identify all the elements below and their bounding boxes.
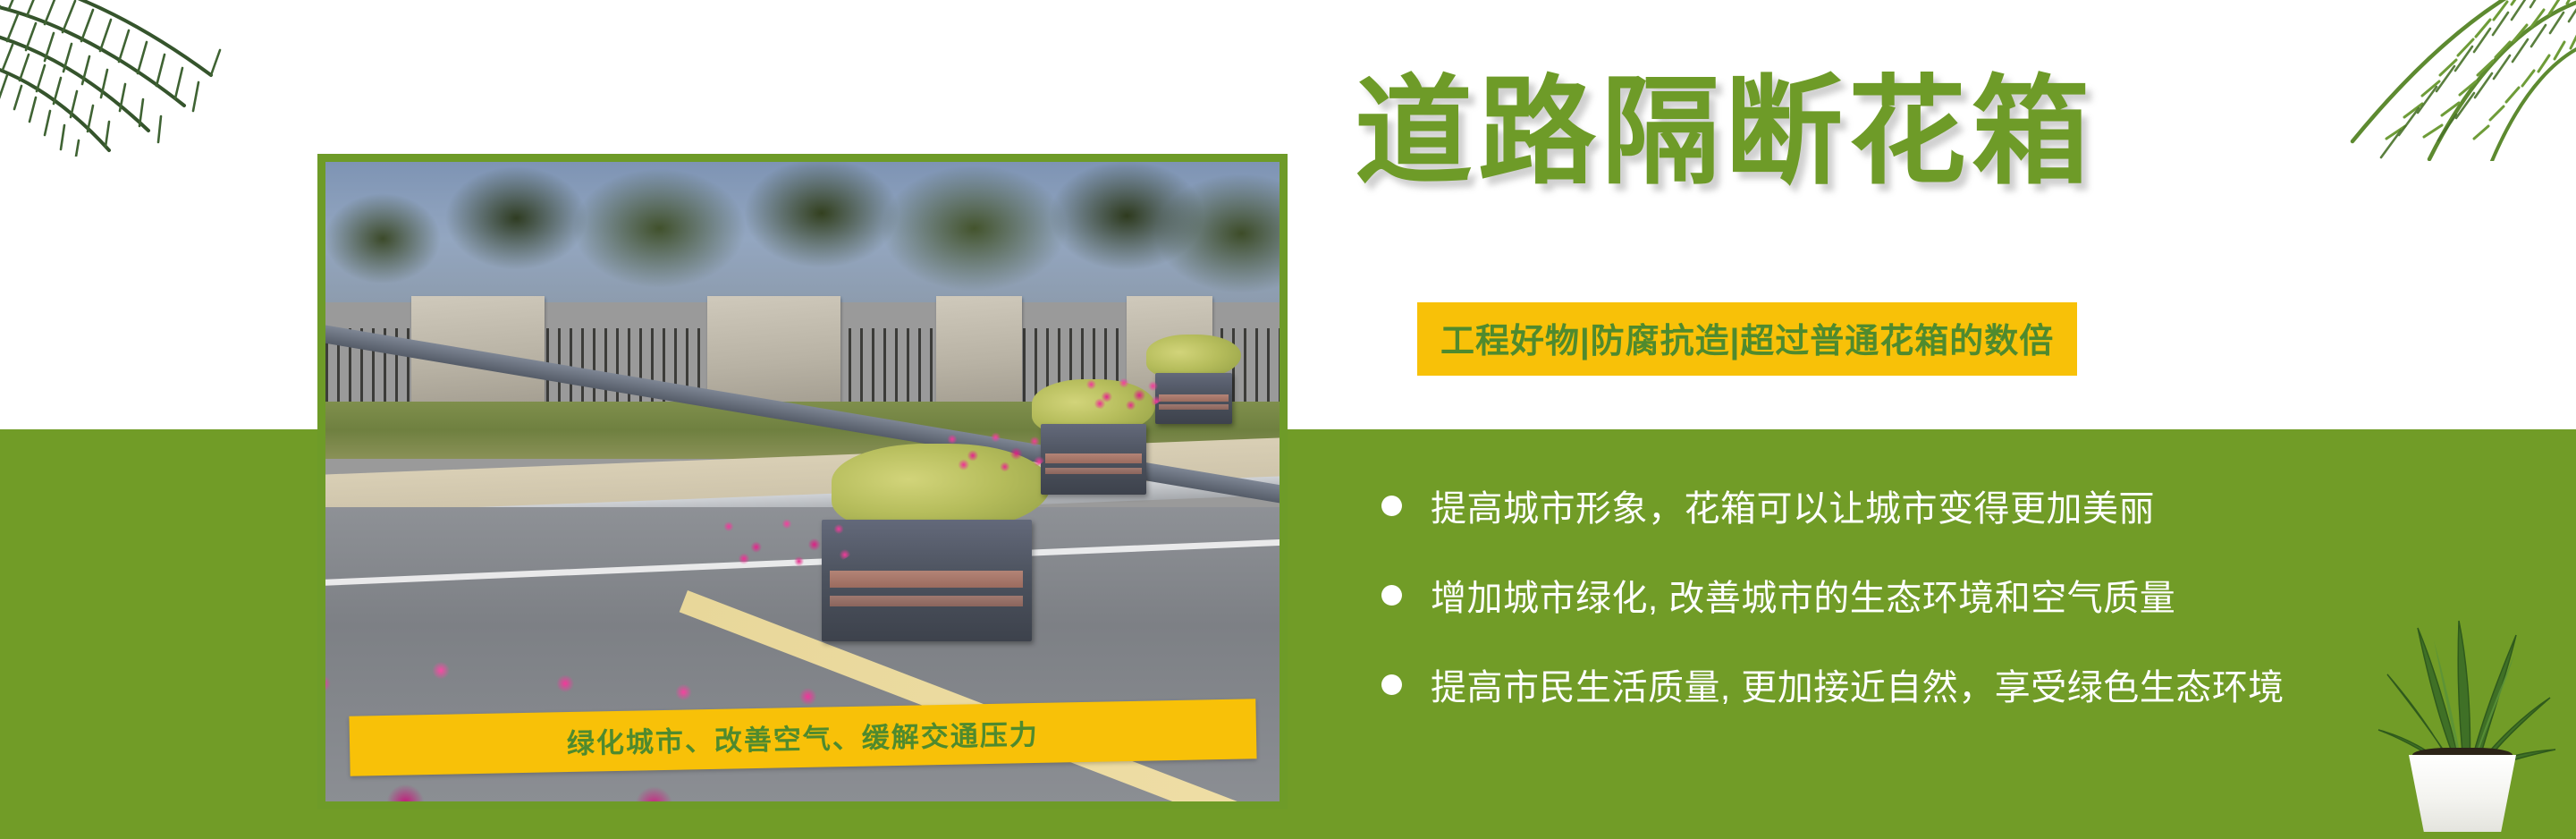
palm-leaf-icon [0,0,241,157]
bullet-dot-icon [1381,585,1402,606]
photo-wall-slab [936,296,1022,405]
photo-planter-box [1155,373,1231,424]
photo-planter-box [1041,424,1145,495]
promo-banner: 绿化城市、改善空气、缓解交通压力 道路隔断花箱 工程好物|防腐抗造|超过普通花箱… [0,0,2576,839]
photo-caption-text: 绿化城市、改善空气、缓解交通压力 [566,719,1039,759]
photo-flowers [1079,373,1165,411]
pot-body [2409,755,2516,832]
text-column: 道路隔断花箱 工程好物|防腐抗造|超过普通花箱的数倍 提高城市形象，花箱可以让城… [1341,0,2576,839]
list-item-label: 增加城市绿化, 改善城市的生态环境和空气质量 [1431,569,2175,621]
product-photo: 绿化城市、改善空气、缓解交通压力 [317,154,1288,809]
page-title: 道路隔断花箱 [1355,73,2095,191]
photo-scene: 绿化城市、改善空气、缓解交通压力 [325,162,1280,801]
potted-plant-icon [2366,615,2558,839]
photo-flowers [936,424,1051,475]
photo-wall-slab [707,296,840,405]
bullet-dot-icon [1381,496,1402,516]
list-item-label: 提高市民生活质量, 更加接近自然，享受绿色生态环境 [1431,658,2285,710]
subtitle-badge-text: 工程好物|防腐抗造|超过普通花箱的数倍 [1440,323,2054,360]
list-item-label: 提高城市形象，花箱可以让城市变得更加美丽 [1431,479,2155,531]
bullet-dot-icon [1381,674,1402,695]
photo-flowers [707,507,860,572]
subtitle-badge: 工程好物|防腐抗造|超过普通花箱的数倍 [1417,302,2077,376]
list-item: 提高城市形象，花箱可以让城市变得更加美丽 [1381,461,2571,550]
